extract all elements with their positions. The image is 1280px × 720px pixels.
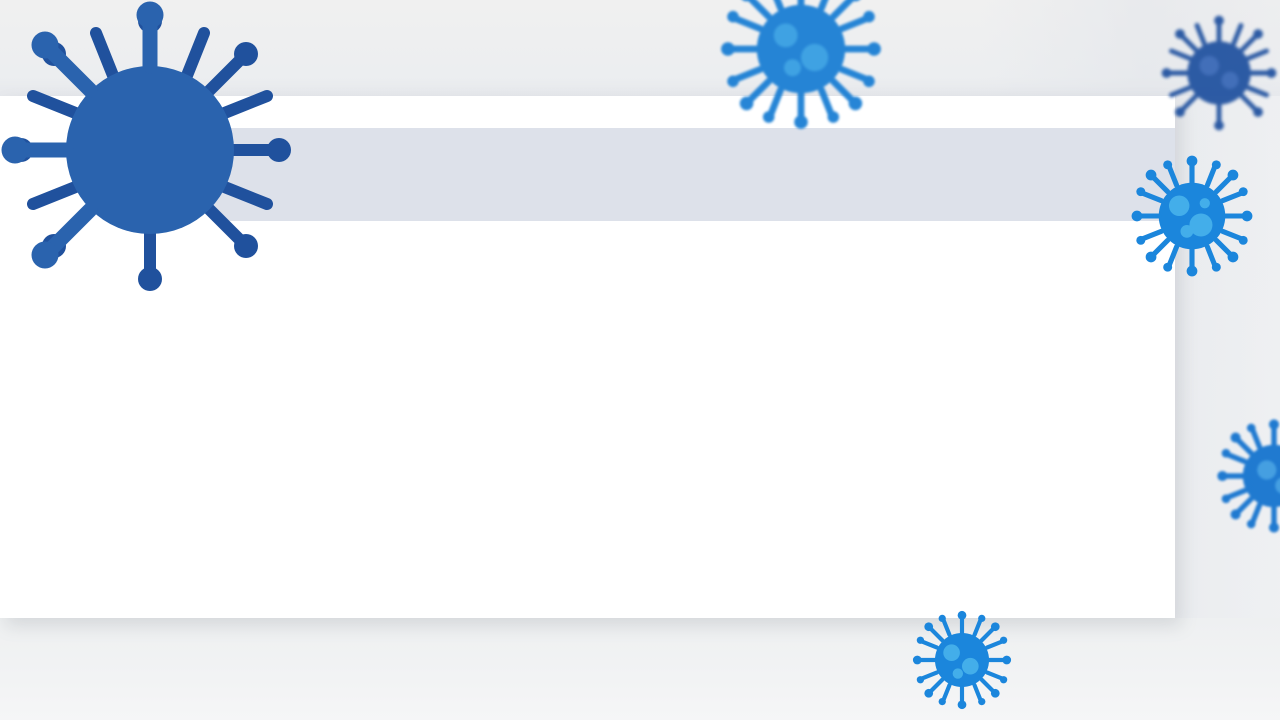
left-white-panel — [0, 96, 212, 618]
background-bottom-strip — [0, 618, 1280, 720]
slide-canvas: SARINGAN COVID-19 PASAR 17 OGOS 2020 — [0, 0, 1280, 720]
